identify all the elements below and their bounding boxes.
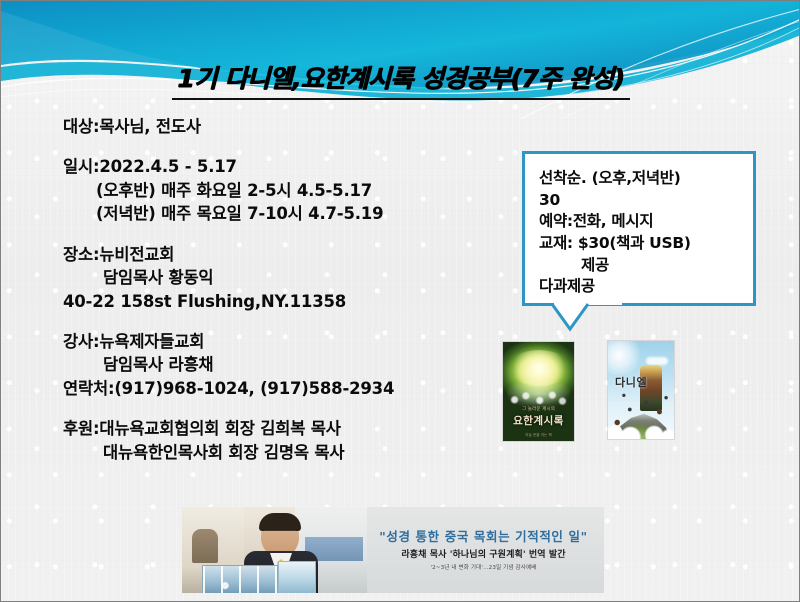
location-line-pastor: 담임목사 황동익 <box>63 266 503 289</box>
info-callout-box: 선착순. (오후,저녁반) 30 예약:전화, 메시지 교재: $30(책과 U… <box>522 151 756 306</box>
photo-chair <box>192 529 218 563</box>
schedule-line-afternoon: (오후반) 매주 화요일 2-5시 4.5-5.17 <box>63 179 503 202</box>
location-line-church: 장소:뉴비전교회 <box>63 243 503 266</box>
book-cover-daniel: 다니엘 <box>608 341 674 439</box>
banner-caption: '2~3년 내 변화 기대'…23일 기념 감사예배 <box>367 563 600 571</box>
revelation-book-subtitle: 그 놀라운 계시의 <box>503 406 574 412</box>
banner-subtitle: 라흥채 목사 '하나님의 구원계획' 번역 발간 <box>367 547 600 560</box>
instructor-line-phone: 연락처:(917)968-1024, (917)588-2934 <box>63 377 503 400</box>
slide-title: 1기 다니엘,요한계시록 성경공부(7주 완성) <box>172 59 631 100</box>
callout-content: 선착순. (오후,저녁반) 30 예약:전화, 메시지 교재: $30(책과 U… <box>525 154 753 298</box>
schedule-line-evening: (저녁반) 매주 목요일 7-10시 4.7-5.19 <box>63 202 503 225</box>
location-line-address: 40-22 158st Flushing,NY.11358 <box>63 290 503 313</box>
callout-line-capacity-number: 30 <box>539 190 753 212</box>
callout-line-capacity: 선착순. (오후,저녁반) <box>539 168 753 190</box>
callout-tail <box>522 303 756 337</box>
callout-line-materials: 교재: $30(책과 USB) <box>539 233 753 255</box>
callout-line-reservation: 예약:전화, 메시지 <box>539 211 753 233</box>
daniel-cloud <box>646 357 668 365</box>
instructor-line-pastor: 담임목사 라흥채 <box>63 353 503 376</box>
revelation-book-title: 요한계시록 <box>503 413 574 428</box>
photo-held-books <box>202 565 278 593</box>
presentation-slide: 1기 다니엘,요한계시록 성경공부(7주 완성) 대상:목사님, 전도사 일시:… <box>0 0 800 602</box>
daniel-sunburst <box>608 341 642 375</box>
banner-text-zone: "성경 통한 중국 목회는 기적적인 일" 라흥채 목사 '하나님의 구원계획'… <box>367 507 604 593</box>
section-schedule: 일시:2022.4.5 - 5.17 (오후반) 매주 화요일 2-5시 4.5… <box>63 155 503 225</box>
section-audience: 대상:목사님, 전도사 <box>63 115 503 138</box>
slide-title-container: 1기 다니엘,요한계시록 성경공부(7주 완성) <box>1 59 800 100</box>
news-clipping-banner: "성경 통한 중국 목회는 기적적인 일" 라흥채 목사 '하나님의 구원계획'… <box>182 507 604 593</box>
daniel-book-title: 다니엘 <box>615 374 647 390</box>
schedule-line-dates: 일시:2022.4.5 - 5.17 <box>63 155 503 178</box>
photo-standing-book <box>278 561 316 593</box>
section-sponsors: 후원:대뉴욕교회협의회 회장 김희복 목사 대뉴욕한인목사회 회장 김명옥 목사 <box>63 417 503 464</box>
person-glasses <box>264 530 296 538</box>
callout-line-provided: 제공 <box>539 255 753 277</box>
audience-line: 대상:목사님, 전도사 <box>63 115 503 138</box>
person-hair <box>259 513 301 531</box>
callout-line-refreshments: 다과제공 <box>539 276 753 298</box>
sponsor-line-1: 후원:대뉴욕교회협의회 회장 김희복 목사 <box>63 417 503 440</box>
revelation-book-footer: 하늘 문을 여는 책 <box>503 433 574 438</box>
section-location: 장소:뉴비전교회 담임목사 황동익 40-22 158st Flushing,N… <box>63 243 503 313</box>
instructor-line-church: 강사:뉴욕제자들교회 <box>63 330 503 353</box>
sponsor-line-2: 대뉴욕한인목사회 회장 김명옥 목사 <box>63 441 503 464</box>
section-instructor: 강사:뉴욕제자들교회 담임목사 라흥채 연락처:(917)968-1024, (… <box>63 330 503 400</box>
body-text-block: 대상:목사님, 전도사 일시:2022.4.5 - 5.17 (오후반) 매주 … <box>63 115 503 464</box>
book-cover-revelation: 그 놀라운 계시의 요한계시록 하늘 문을 여는 책 <box>503 342 574 441</box>
banner-photo <box>182 507 367 593</box>
banner-headline: "성경 통한 중국 목회는 기적적인 일" <box>367 526 600 545</box>
